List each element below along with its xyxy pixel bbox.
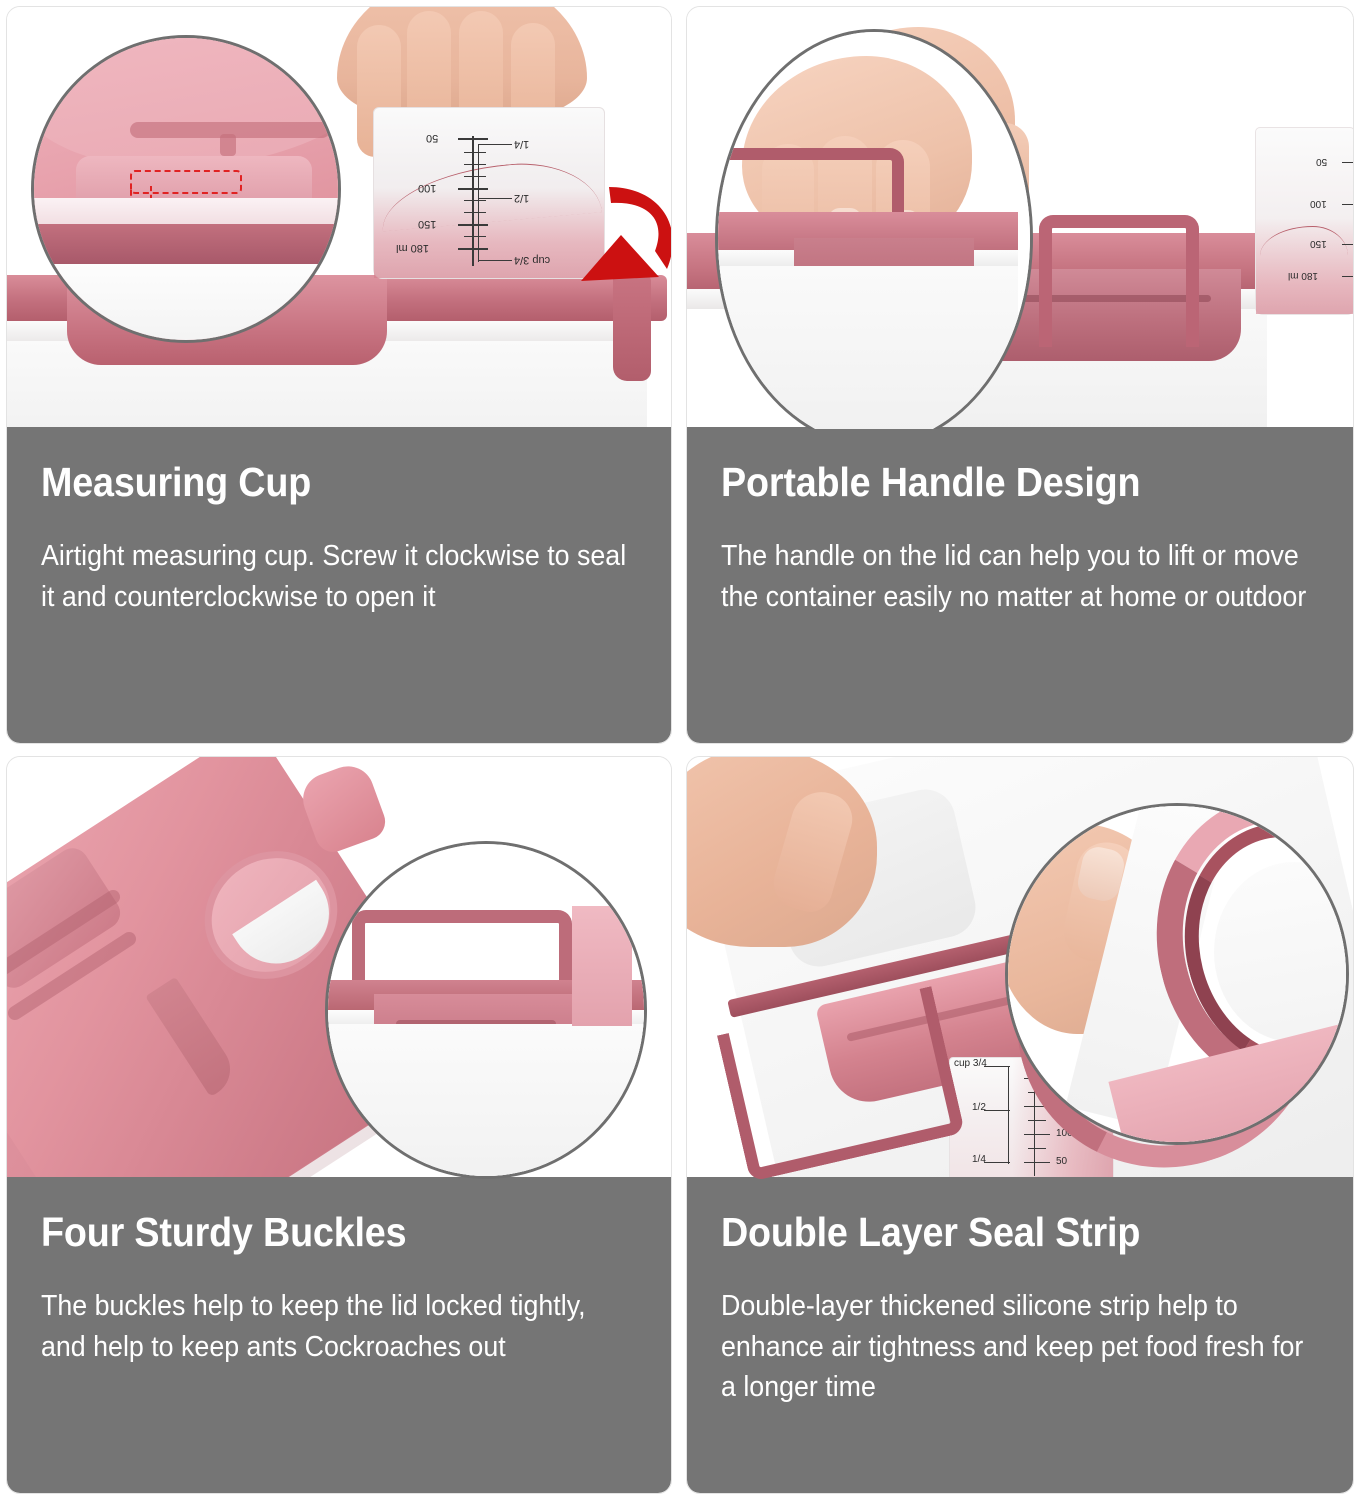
feature-panel-portable-handle: 50 100 150 180 ml: [680, 0, 1362, 750]
feature-panel-four-buckles: Four Sturdy Buckles The buckles help to …: [0, 750, 680, 1500]
scale-label-ml: 100: [1310, 198, 1327, 209]
feature-panel-double-seal: 180 ml 150 100 50 cup 3/4 1/2 1/4: [680, 750, 1362, 1500]
panel-body: The handle on the lid can help you to li…: [721, 536, 1317, 617]
scale-tick: [458, 224, 488, 226]
scale-tick: [458, 248, 488, 250]
scale-tick: [1342, 244, 1353, 245]
product-photo-portable-handle: 50 100 150 180 ml: [687, 7, 1353, 429]
cup-bracket: [478, 144, 479, 262]
cup-bracket-arm: [984, 1066, 1010, 1067]
magnifier-circle-icon: [325, 841, 647, 1179]
scale-label-ml: 50: [1316, 156, 1327, 167]
scale-tick: [1024, 1162, 1050, 1163]
scale-label-cup: cup 3/4: [514, 254, 550, 266]
scale-label-ml: 100: [418, 182, 436, 194]
scale-label-ml: 180 ml: [396, 242, 429, 254]
panel-body: The buckles help to keep the lid locked …: [41, 1286, 635, 1367]
product-photo-double-seal: 180 ml 150 100 50 cup 3/4 1/2 1/4: [687, 757, 1353, 1179]
scale-tick: [464, 164, 486, 165]
red-rotation-arrow-icon: [563, 173, 671, 303]
product-photo-four-buckles: [7, 757, 671, 1179]
measuring-cup: 50 100 150 180 ml: [1255, 127, 1353, 315]
magnifier-circle-icon: [31, 35, 341, 343]
carry-handle-right: [1039, 215, 1199, 347]
panel-title: Measuring Cup: [41, 461, 589, 504]
magnifier-circle-icon: [1005, 803, 1349, 1145]
feature-panel-measuring-cup: 50 100 150 180 ml 1/4 1/2 cup 3/4: [0, 0, 680, 750]
panel-title: Four Sturdy Buckles: [41, 1211, 589, 1254]
scale-tick: [1342, 276, 1353, 277]
panel-body: Airtight measuring cup. Screw it clockwi…: [41, 536, 635, 617]
caption-four-buckles: Four Sturdy Buckles The buckles help to …: [7, 1177, 671, 1493]
cup-bracket-arm: [478, 198, 512, 199]
scale-label-ml: 150: [418, 218, 436, 230]
panel-title: Double Layer Seal Strip: [721, 1211, 1271, 1254]
scale-tick: [464, 152, 486, 153]
caption-portable-handle: Portable Handle Design The handle on the…: [687, 427, 1353, 743]
cup-bracket-arm: [984, 1110, 1010, 1111]
panel-title: Portable Handle Design: [721, 461, 1271, 504]
caption-double-seal: Double Layer Seal Strip Double-layer thi…: [687, 1177, 1353, 1493]
cup-bracket-arm: [984, 1162, 1010, 1163]
scale-label-ml: 150: [1310, 238, 1327, 249]
scale-label-ml: 50: [1056, 1156, 1067, 1167]
scale-label-cup: 1/2: [972, 1102, 986, 1113]
scale-label-cup: 1/2: [514, 192, 529, 204]
scale-label-cup: 1/4: [972, 1154, 986, 1165]
scale-tick: [1342, 204, 1353, 205]
scale-label-cup: 1/4: [514, 138, 529, 150]
product-photo-measuring-cup: 50 100 150 180 ml 1/4 1/2 cup 3/4: [7, 7, 671, 429]
scale-tick: [458, 188, 488, 190]
scale-label-ml: 180 ml: [1288, 270, 1318, 281]
panel-body: Double-layer thickened silicone strip he…: [721, 1286, 1317, 1407]
scale-tick: [464, 236, 486, 237]
scale-tick: [458, 138, 488, 140]
cup-bracket-arm: [478, 144, 512, 145]
scale-label-ml: 50: [426, 132, 438, 144]
caption-measuring-cup: Measuring Cup Airtight measuring cup. Sc…: [7, 427, 671, 743]
magnifier-circle-icon: [715, 29, 1033, 429]
scale-tick: [1028, 1148, 1046, 1149]
scale-tick: [1342, 162, 1353, 163]
scale-tick: [464, 212, 486, 213]
scale-tick: [464, 200, 486, 201]
scale-tick: [464, 176, 486, 177]
feature-grid: 50 100 150 180 ml 1/4 1/2 cup 3/4: [0, 0, 1362, 1500]
cup-bracket-arm: [478, 260, 512, 261]
scale-label-cup: cup 3/4: [954, 1058, 987, 1069]
